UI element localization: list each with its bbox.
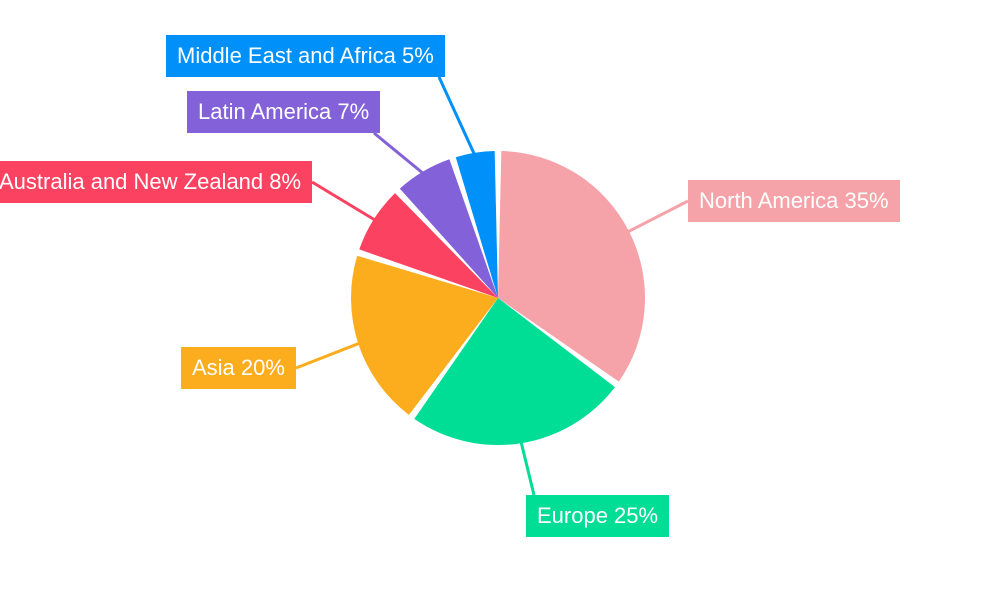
pie-chart-canvas: North America 35% Europe 25% Asia 20% Au… bbox=[0, 0, 1000, 600]
pie-label-asia[interactable]: Asia 20% bbox=[181, 347, 296, 389]
pie-label-north-america-text: North America 35% bbox=[699, 188, 889, 213]
pie-chart-graphic bbox=[0, 0, 1000, 600]
pie-leader-line bbox=[374, 133, 425, 175]
pie-leader-line bbox=[520, 439, 534, 495]
pie-label-australia-and-new-zealand[interactable]: Australia and New Zealand 8% bbox=[0, 161, 312, 203]
pie-leader-line bbox=[625, 201, 688, 233]
pie-label-asia-text: Asia 20% bbox=[192, 355, 285, 380]
pie-label-middle-east-africa-text: Middle East and Africa 5% bbox=[177, 43, 434, 68]
pie-label-europe-text: Europe 25% bbox=[537, 503, 658, 528]
pie-label-latin-america[interactable]: Latin America 7% bbox=[187, 91, 380, 133]
pie-label-europe[interactable]: Europe 25% bbox=[526, 495, 669, 537]
pie-label-latin-america-text: Latin America 7% bbox=[198, 99, 369, 124]
pie-leader-line bbox=[439, 77, 476, 157]
pie-leader-line bbox=[296, 342, 362, 368]
pie-label-north-america[interactable]: North America 35% bbox=[688, 180, 900, 222]
pie-leader-line bbox=[312, 182, 378, 222]
pie-label-middle-east-and-africa[interactable]: Middle East and Africa 5% bbox=[166, 35, 445, 77]
pie-wedge-group bbox=[351, 151, 645, 445]
pie-label-australia-and-new-zealand-text: Australia and New Zealand 8% bbox=[0, 169, 301, 194]
